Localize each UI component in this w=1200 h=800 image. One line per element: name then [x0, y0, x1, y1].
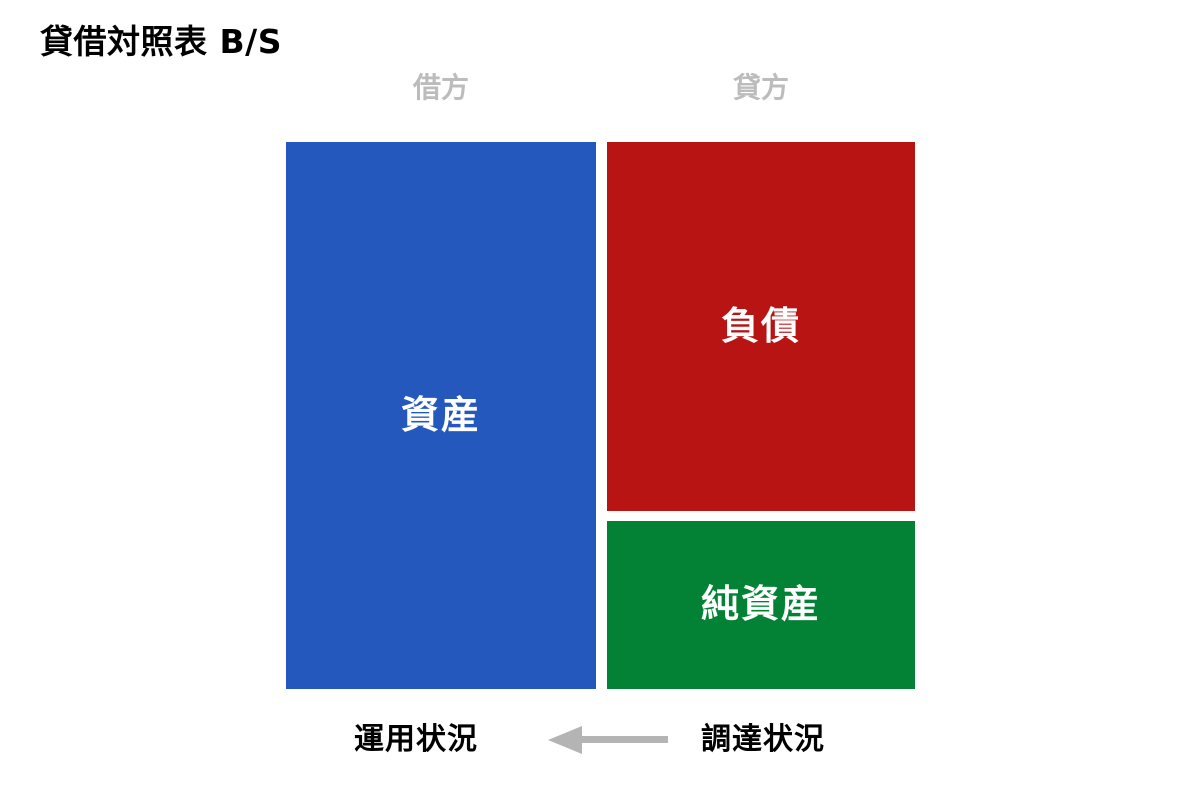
box-assets-label: 資産 [401, 393, 481, 439]
box-liabilities[interactable]: 負債 [607, 142, 915, 511]
column-header-credit: 貸方 [607, 71, 915, 105]
column-header-debit: 借方 [286, 71, 596, 105]
footer-label-funding: 調達状況 [658, 714, 868, 766]
page-title: 貸借対照表 B/S [40, 22, 282, 62]
footer-caption-row: 運用状況 調達状況 [286, 714, 915, 766]
balance-sheet-diagram: 貸借対照表 B/S 借方 貸方 資産 負債 純資産 運用状況 調達状況 [0, 0, 1200, 800]
box-net-assets[interactable]: 純資産 [607, 521, 915, 689]
box-net-assets-label: 純資産 [701, 582, 821, 628]
box-assets[interactable]: 資産 [286, 142, 596, 689]
left-arrow-icon [548, 726, 668, 754]
box-liabilities-label: 負債 [721, 304, 801, 350]
footer-label-usage: 運用状況 [316, 714, 516, 766]
